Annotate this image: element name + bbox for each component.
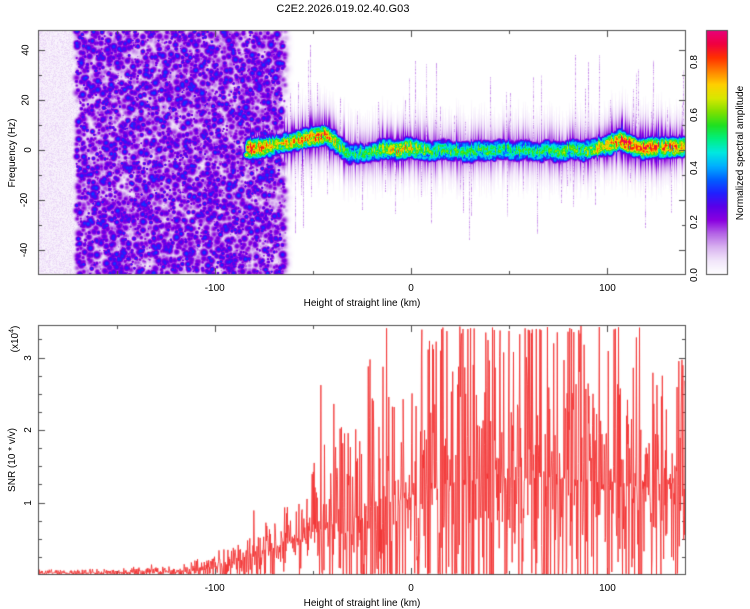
spectrogram-ylabel: Frequency (Hz) (8, 118, 18, 187)
spectrogram-ytick-2: 0 (24, 147, 34, 153)
spectrogram-xtick-0: -100 (205, 284, 225, 294)
spectrogram-ytick-1: 20 (21, 94, 31, 105)
spectrogram-xlabel: Height of straight line (km) (304, 299, 421, 309)
snr-xtick-2: 100 (599, 584, 616, 594)
colorbar-tick-1: 0.2 (690, 215, 700, 229)
spectrogram-xtick-2: 100 (599, 284, 616, 294)
spectrogram-ytick-0: 40 (21, 44, 31, 55)
snr-y-exponent: (x104) (9, 326, 21, 353)
snr-xtick-0: -100 (205, 584, 225, 594)
spectrogram-ytick-4: -40 (20, 243, 30, 257)
spectrogram-xtick-1: 0 (408, 284, 414, 294)
colorbar-label: Normalized spectral amplitude (736, 85, 746, 220)
snr-xtick-1: 0 (408, 584, 414, 594)
snr-xlabel: Height of straight line (km) (304, 599, 421, 609)
snr-ytick-2: 3 (24, 355, 34, 361)
snr-exponent-text: (x104) (10, 326, 21, 353)
snr-ytick-1: 2 (24, 427, 34, 433)
figure-title: C2E2.2026.019.02.40.G03 (0, 4, 686, 15)
colorbar-tick-0: 0.0 (690, 268, 700, 282)
snr-ylabel: SNR (10 * v/v) (8, 428, 18, 492)
colorbar-tick-2: 0.4 (690, 162, 700, 176)
spectrogram-ytick-3: -20 (20, 193, 30, 207)
figure-container: C2E2.2026.019.02.40.G03 -100010040200-20… (0, 0, 750, 600)
colorbar-tick-3: 0.6 (690, 108, 700, 122)
snr-ytick-0: 1 (24, 500, 34, 506)
colorbar-tick-4: 0.8 (690, 55, 700, 69)
